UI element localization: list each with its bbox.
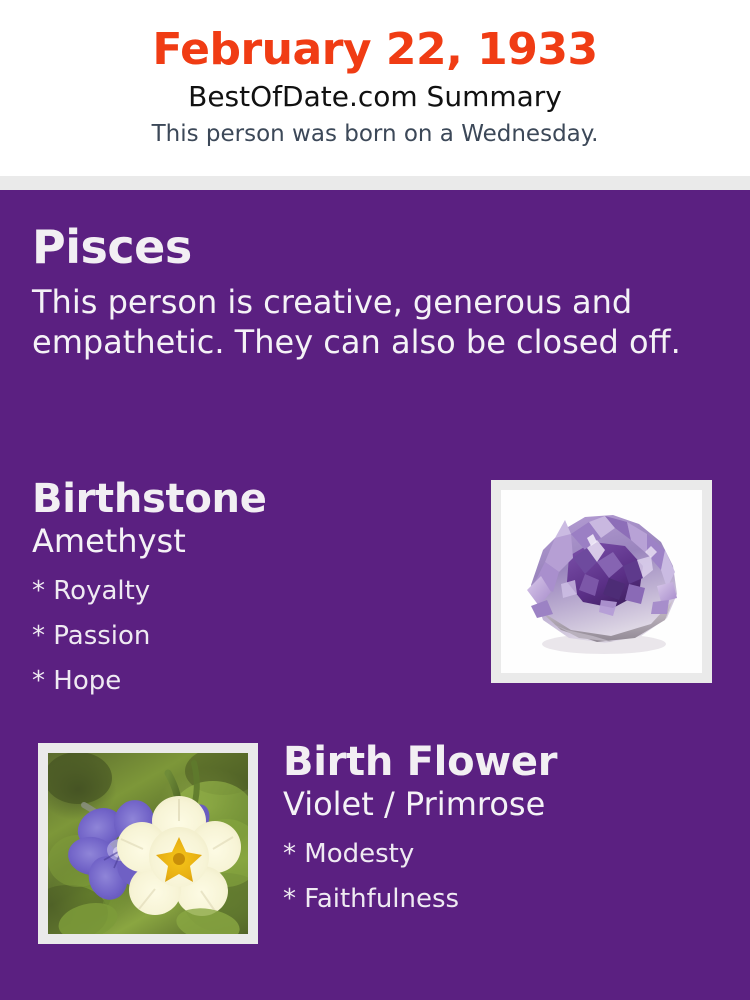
birthstone-image-frame [491, 480, 712, 683]
page-title-date: February 22, 1933 [0, 24, 750, 76]
birthflower-name: Violet / Primrose [283, 784, 723, 824]
zodiac-section: Pisces This person is creative, generous… [32, 220, 722, 362]
zodiac-sign-title: Pisces [32, 220, 722, 274]
birthstone-section: Birthstone Amethyst * Royalty * Passion … [32, 475, 462, 704]
site-name-label: BestOfDate.com Summary [0, 78, 750, 116]
summary-card: February 22, 1933 BestOfDate.com Summary… [0, 0, 750, 1000]
birthstone-title: Birthstone [32, 475, 462, 523]
birthflower-image-frame [38, 743, 258, 944]
birthstone-image [501, 490, 702, 673]
birthstone-name: Amethyst [32, 521, 462, 561]
birthflower-section: Birth Flower Violet / Primrose * Modesty… [283, 738, 723, 922]
birth-weekday-text: This person was born on a Wednesday. [0, 118, 750, 150]
list-item: * Passion [32, 614, 462, 659]
zodiac-description: This person is creative, generous and em… [32, 282, 700, 362]
violet-primrose-flowers-icon [48, 753, 248, 934]
header-section: February 22, 1933 BestOfDate.com Summary… [0, 0, 750, 176]
birthflower-trait-list: * Modesty * Faithfulness [283, 832, 723, 922]
list-item: * Modesty [283, 832, 723, 877]
flower-scene [48, 753, 248, 934]
list-item: * Faithfulness [283, 877, 723, 922]
header-divider [0, 176, 750, 190]
birthflower-image [48, 753, 248, 934]
birthstone-trait-list: * Royalty * Passion * Hope [32, 569, 462, 704]
list-item: * Royalty [32, 569, 462, 614]
list-item: * Hope [32, 659, 462, 704]
amethyst-crystal-icon [501, 490, 702, 673]
birthflower-title: Birth Flower [283, 738, 723, 786]
